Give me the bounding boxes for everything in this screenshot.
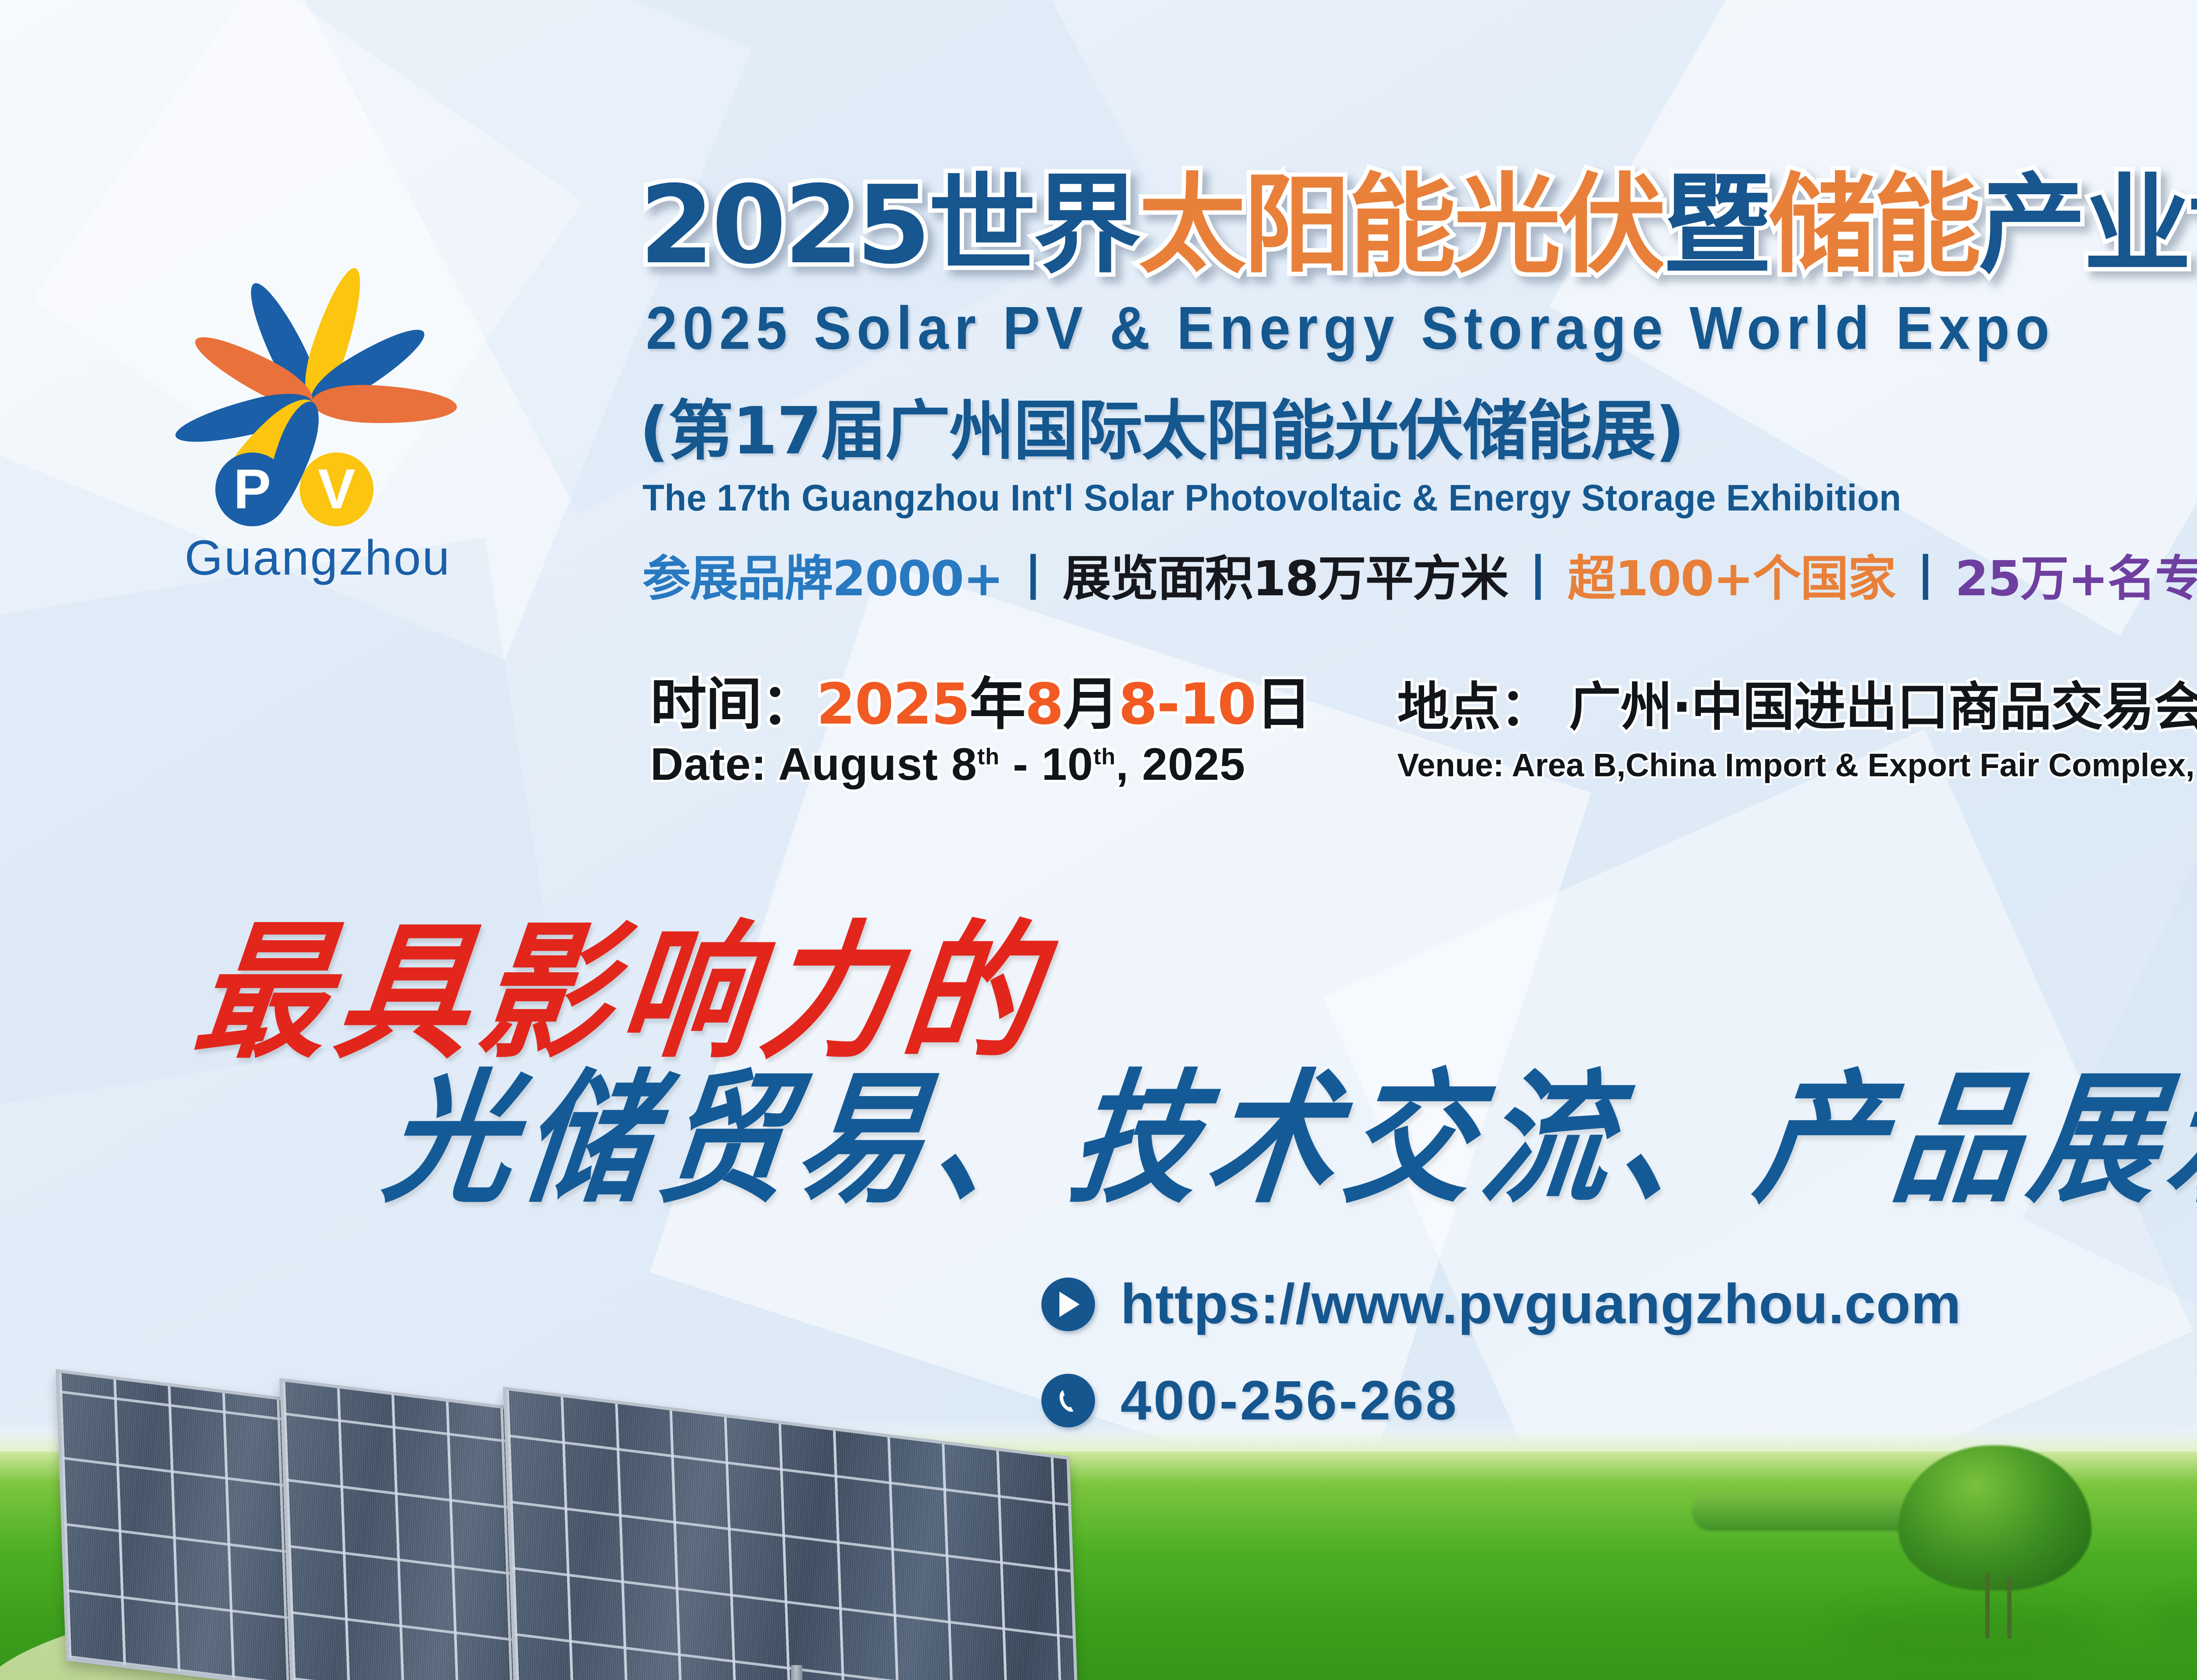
title-seg-2: 暨 xyxy=(1664,163,1769,288)
play-circle-icon xyxy=(1041,1278,1095,1331)
date-ord2: th xyxy=(1093,744,1116,770)
title-seg-3: 储能 xyxy=(1769,163,1979,288)
stat-visitors: 25万+名专业观众 xyxy=(1955,550,2197,607)
contact-block: https://www.pvguangzhou.com 400-256-268 xyxy=(1041,1276,1961,1469)
main-title: 2025世界太阳能光伏暨储能产业博览会 xyxy=(639,171,2197,279)
date-year-char: 年 xyxy=(969,672,1025,737)
stat-area: 展览面积18万平方米 xyxy=(1062,550,1508,607)
edition-title-english: The 17th Guangzhou Int'l Solar Photovolt… xyxy=(642,477,1901,519)
pv-guangzhou-logo: P V Guangzhou xyxy=(53,176,571,628)
logo-p-letter: P xyxy=(233,461,271,518)
logo-petal-4 xyxy=(311,383,457,426)
solar-panel-array xyxy=(18,1314,1055,1678)
date-year-en: , 2025 xyxy=(1116,739,1245,790)
date-line-chinese: 时间：2025年8月8-10日 xyxy=(650,674,1311,735)
logo-v-letter: V xyxy=(318,461,355,518)
title-seg-1: 太阳能光伏 xyxy=(1138,163,1664,288)
website-row[interactable]: https://www.pvguangzhou.com xyxy=(1041,1276,1961,1332)
stat-countries: 超100+个国家 xyxy=(1567,550,1895,607)
logo-pv-marks: P V xyxy=(215,453,373,526)
phone-circle-icon xyxy=(1041,1374,1095,1427)
date-days: 8-10 xyxy=(1118,672,1255,737)
website-url[interactable]: https://www.pvguangzhou.com xyxy=(1120,1276,1961,1332)
date-block: 时间：2025年8月8-10日 Date: August 8th - 10th,… xyxy=(650,674,1311,790)
phone-number[interactable]: 400-256-268 xyxy=(1120,1373,1459,1428)
venue-line-chinese: 地点： 广州·中国进出口商品交易会展馆B区 xyxy=(1397,679,2197,736)
date-dash: - xyxy=(1000,739,1041,790)
date-month: 8 xyxy=(1025,672,1063,737)
panel-leg-3 xyxy=(791,1665,802,1680)
venue-line-english: Venue: Area B,China Import & Export Fair… xyxy=(1397,747,2197,783)
logo-p-circle: P xyxy=(215,453,289,526)
logo-wordmark: Guangzhou xyxy=(185,529,451,586)
date-label-en: Date: August xyxy=(650,739,951,790)
tree-left xyxy=(1894,1445,2105,1634)
banner-canvas: P V Guangzhou 2025世界太阳能光伏暨储能产业博览会 2025 S… xyxy=(0,0,2197,1680)
stat-sep-1: 丨 xyxy=(1003,550,1062,607)
date-day2: 10 xyxy=(1042,739,1094,790)
stat-brands: 参展品牌2000+ xyxy=(642,550,1003,607)
title-seg-0: 2025世界 xyxy=(639,163,1138,288)
title-seg-4: 产业博览会 xyxy=(1979,163,2197,288)
date-day-char: 日 xyxy=(1256,672,1311,737)
slogan-line-1: 最具影响力的 xyxy=(189,918,1055,1066)
stat-sep-3: 丨 xyxy=(1895,550,1955,607)
slogan-line-2: 光储贸易、技术交流、产品展示平台! xyxy=(378,1068,2197,1210)
date-month-char: 月 xyxy=(1063,672,1118,737)
stat-sep-2: 丨 xyxy=(1508,550,1567,607)
date-line-english: Date: August 8th - 10th, 2025 xyxy=(650,739,1311,789)
solar-panel-front xyxy=(503,1387,1080,1680)
date-day1: 8 xyxy=(951,739,977,790)
date-ord1: th xyxy=(977,744,1000,770)
date-year: 2025 xyxy=(816,672,969,737)
edition-title-chinese: (第17届广州国际太阳能光伏储能展) xyxy=(639,378,1684,472)
main-title-english: 2025 Solar PV & Energy Storage World Exp… xyxy=(646,293,2055,363)
logo-v-circle: V xyxy=(300,453,373,526)
date-label-cn: 时间： xyxy=(650,672,816,737)
venue-block: 地点： 广州·中国进出口商品交易会展馆B区 Venue: Area B,Chin… xyxy=(1397,679,2197,783)
stats-row: 参展品牌2000+丨展览面积18万平方米丨超100+个国家丨25万+名专业观众 xyxy=(642,554,2197,603)
phone-row[interactable]: 400-256-268 xyxy=(1041,1373,1961,1428)
